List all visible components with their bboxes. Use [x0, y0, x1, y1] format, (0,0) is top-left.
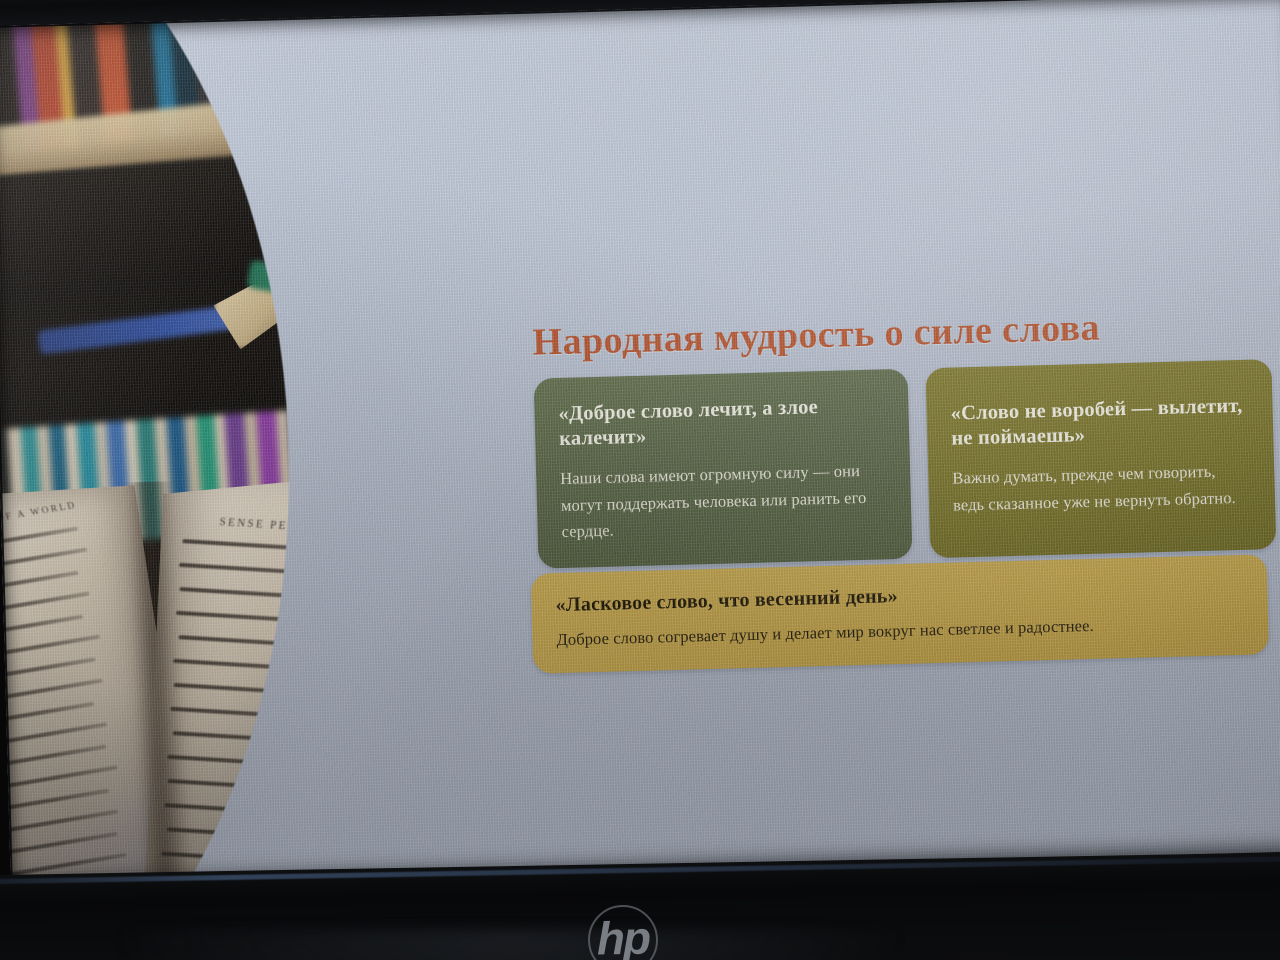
page-title: Народная мудрость о силе слова — [532, 308, 1100, 365]
book-running-head-right: SENSE PERCEPTION — [219, 516, 361, 537]
slide-photo-bookshelf: CONSCIOUSNESS OF A WORLD — [0, 3, 493, 887]
book-page-number: 35 — [413, 479, 427, 495]
monitor-stand-shadow — [120, 930, 900, 960]
quote-card-title: «Ласковое слово, что весенний день» — [555, 575, 1241, 618]
quote-card-tender-word[interactable]: «Ласковое слово, что весенний день» Добр… — [531, 554, 1269, 674]
quote-card-body: Важно думать, прежде чем говорить, ведь … — [952, 458, 1249, 519]
monitor-screen: CONSCIOUSNESS OF A WORLD — [0, 0, 1280, 888]
quote-card-title: «Доброе слово лечит, а злое калечит» — [558, 393, 883, 452]
hp-logo: hp — [587, 904, 658, 960]
book-running-head-left: CONSCIOUSNESS OF A WORLD — [0, 501, 78, 543]
photographed-monitor-scene: CONSCIOUSNESS OF A WORLD — [0, 0, 1280, 960]
presentation-slide: CONSCIOUSNESS OF A WORLD — [0, 0, 1280, 888]
quote-card-title: «Слово не воробей — вылетит, не поймаешь… — [950, 394, 1247, 452]
quote-card-good-word-heals[interactable]: «Доброе слово лечит, а злое калечит» Наш… — [534, 369, 913, 569]
hp-logo-text: hp — [596, 915, 649, 960]
slide-text-content: Народная мудрость о силе слова «Доброе с… — [488, 0, 1280, 874]
quote-cards-row: «Доброе слово лечит, а злое калечит» Наш… — [534, 359, 1277, 569]
open-book: CONSCIOUSNESS OF A WORLD — [0, 473, 481, 887]
quote-card-body: Доброе слово согревает душу и делает мир… — [556, 610, 1242, 653]
quote-card-word-not-sparrow[interactable]: «Слово не воробей — вылетит, не поймаешь… — [925, 359, 1276, 558]
quote-card-body: Наши слова имеют огромную силу — они мог… — [560, 457, 886, 546]
